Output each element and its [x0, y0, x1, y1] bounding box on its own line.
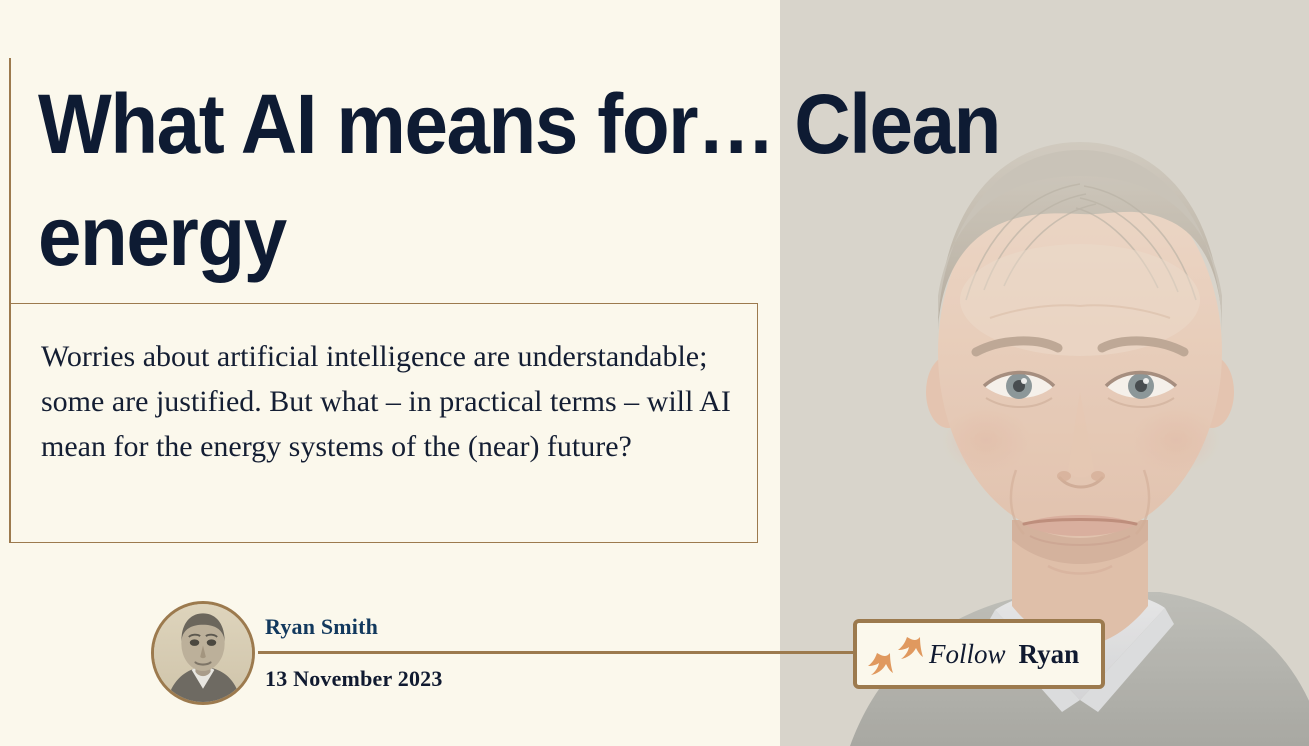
follow-label: Follow: [929, 639, 1006, 670]
two-birds-icon: [863, 631, 927, 677]
follow-target-name: Ryan: [1019, 639, 1080, 670]
standfirst-box: Worries about artificial intelligence ar…: [9, 303, 758, 543]
avatar[interactable]: [151, 601, 255, 705]
author-name[interactable]: Ryan Smith: [265, 614, 378, 640]
article-hero: What AI means for… Clean energy Worries …: [0, 0, 1309, 746]
standfirst-text: Worries about artificial intelligence ar…: [41, 334, 731, 469]
follow-button[interactable]: Follow Ryan: [853, 619, 1105, 689]
page-title: What AI means for… Clean energy: [38, 68, 1080, 292]
avatar-portrait-image: [154, 604, 252, 702]
publish-date: 13 November 2023: [265, 666, 443, 692]
byline-connector-rule: [258, 651, 855, 654]
